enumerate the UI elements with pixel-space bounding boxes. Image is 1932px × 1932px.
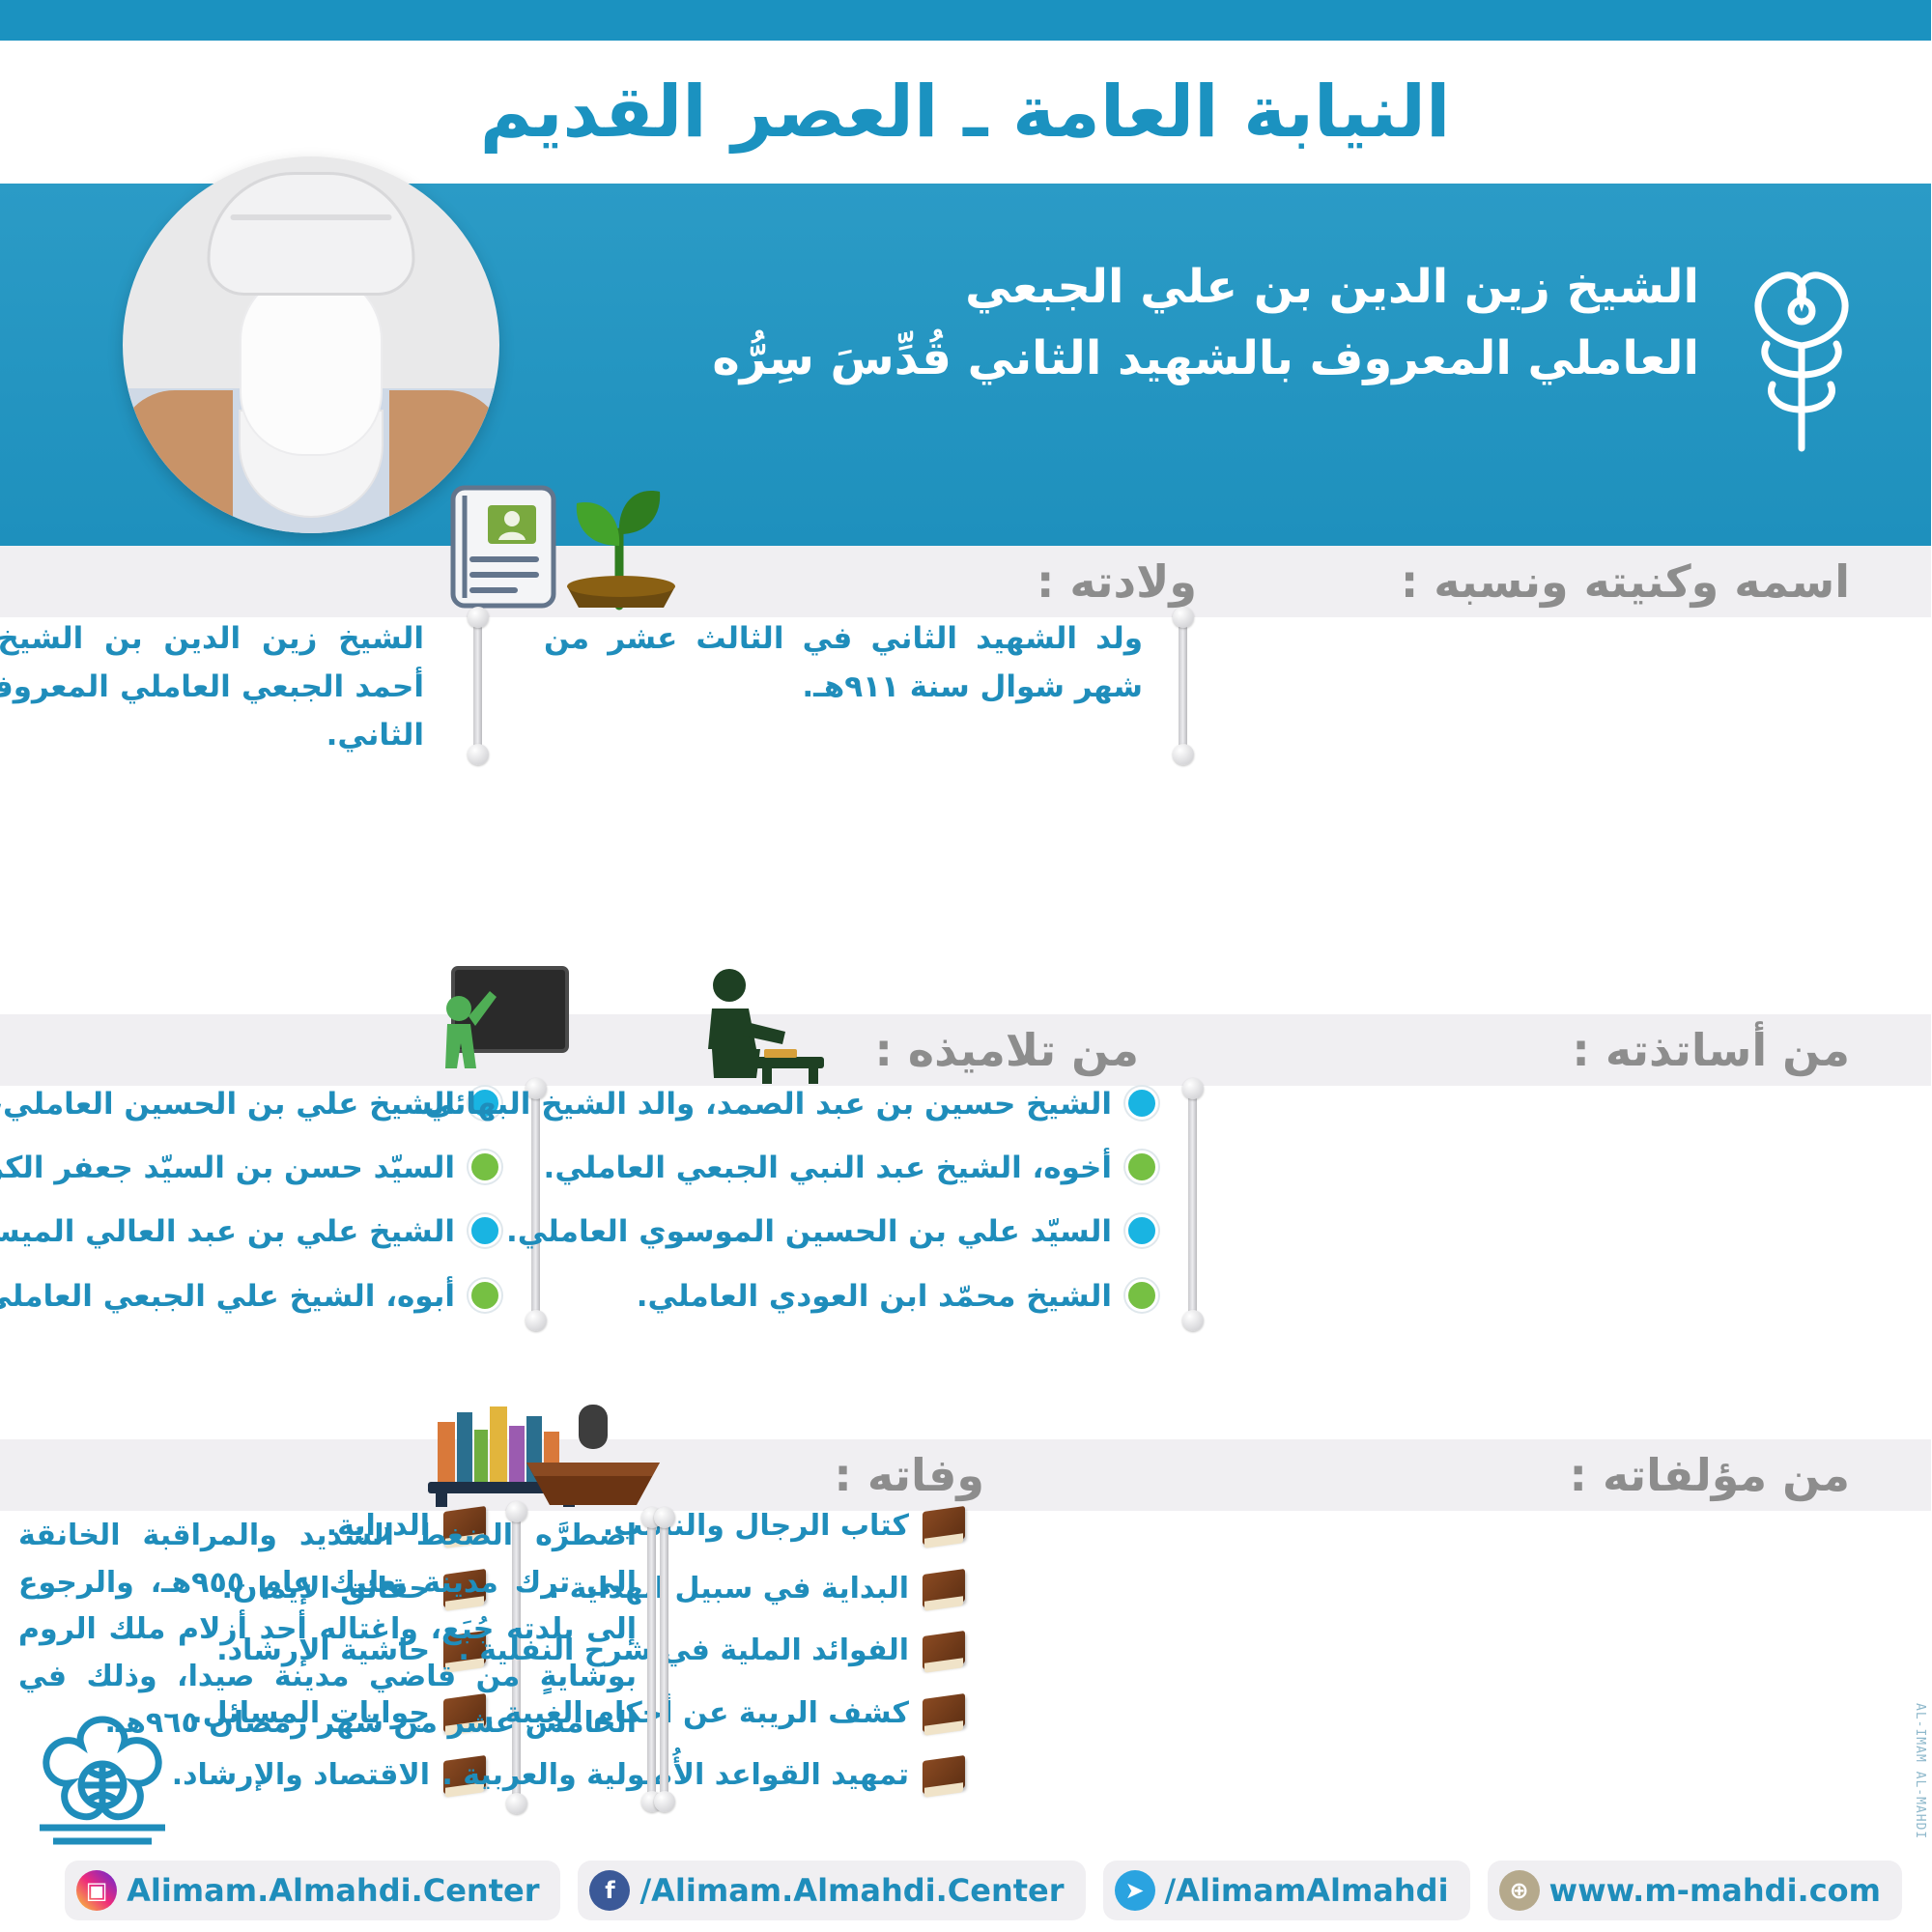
book-icon <box>923 1572 966 1605</box>
list-item-label: أبوه، الشيخ علي الجبعي العاملي. <box>0 1272 456 1321</box>
footer-social-bar: ▣Alimam.Almahdi.Centerf/Alimam.Almahdi.C… <box>0 1849 1932 1932</box>
section-body-death: اضطرَّه الضغط الشديد والمراقبة الخانقة إ… <box>19 1513 638 1747</box>
footer-link-label: www.m-mahdi.com <box>1550 1872 1882 1909</box>
book-icon <box>923 1509 966 1542</box>
list-item-label: السيّد علي بن الحسين الموسوي العاملي. <box>507 1207 1113 1256</box>
scholar-name-line2: العاملي المعروف بالشهيد الثاني قُدِّسَ س… <box>713 323 1700 394</box>
section-body-birth: ولد الشهيد الثاني في الثالث عشر من شهر ش… <box>545 614 1144 711</box>
list-item: تمهيد القواعد الأُصولية والعربية . <box>444 1752 966 1800</box>
list-item-label: السيّد حسن بن السيّد جعفر الكركي. <box>0 1144 456 1192</box>
section-body-name: الشيخ زين الدين بن الشيخ علي بن أحمد الج… <box>0 614 425 760</box>
footer-link-label: /Alimam.Almahdi.Center <box>640 1872 1065 1909</box>
watermark-text: AL-IMAM AL-MAHDI <box>1914 1703 1928 1839</box>
scholar-name-block: الشيخ زين الدين بن علي الجبعي العاملي ال… <box>713 251 1700 395</box>
list-item: الشيخ محمّد ابن العودي العاملي. <box>464 1272 1159 1321</box>
globe-icon: ⊕ <box>1500 1870 1541 1911</box>
facebook-icon: f <box>590 1870 631 1911</box>
student-writing-icon <box>676 968 831 1084</box>
section-band-identity: اسمه وكنيته ونسبه : ولادته : <box>0 546 1932 617</box>
footer-link-ig[interactable]: ▣Alimam.Almahdi.Center <box>66 1861 561 1920</box>
telegram-icon: ➤ <box>1116 1870 1156 1911</box>
face-shape <box>241 270 384 456</box>
floral-ornament-icon <box>1735 230 1870 452</box>
list-item: السيّد حسن بن السيّد جعفر الكركي. <box>0 1144 502 1192</box>
scholar-name-line1: الشيخ زين الدين بن علي الجبعي <box>713 251 1700 323</box>
cloak-left-shape <box>124 390 234 533</box>
rail-death-spacer <box>648 1519 657 1801</box>
grave-icon <box>522 1405 667 1509</box>
book-icon <box>923 1696 966 1729</box>
rail-name <box>474 618 483 753</box>
footer-link-label: /AlimamAlmahdi <box>1166 1872 1450 1909</box>
students-list: الشيخ حسين بن عبد الصمد، والد الشيخ البه… <box>464 1080 1159 1336</box>
top-accent-bar <box>0 0 1932 41</box>
book-icon <box>923 1634 966 1666</box>
scholar-portrait <box>124 156 500 533</box>
list-item: الشيخ علي بن عبد العالي الميسي. <box>0 1207 502 1256</box>
bullet-dot-icon <box>1126 1087 1159 1120</box>
rail-death <box>661 1519 669 1801</box>
instagram-icon: ▣ <box>77 1870 118 1911</box>
bullet-dot-icon <box>1126 1214 1159 1247</box>
list-item-label: أخوه، الشيخ عبد النبي الجبعي العاملي. <box>545 1144 1113 1192</box>
al-imam-al-mahdi-logo <box>21 1714 185 1859</box>
section-band-education: من أساتذته : من تلاميذه : <box>0 1014 1932 1086</box>
bullet-dot-icon <box>1126 1279 1159 1312</box>
list-item-label: الشيخ حسين بن عبد الصمد، والد الشيخ البه… <box>414 1080 1113 1128</box>
section-title-death: وفاته : <box>835 1449 985 1501</box>
section-title-students: من تلاميذه : <box>876 1024 1140 1076</box>
id-card-icon <box>448 484 560 610</box>
list-item: أخوه، الشيخ عبد النبي الجبعي العاملي. <box>464 1144 1159 1192</box>
section-title-birth: ولادته : <box>1037 555 1198 608</box>
section-band-legacy: من مؤلفاته : وفاته : <box>0 1439 1932 1511</box>
blackboard-teacher-icon <box>415 966 570 1082</box>
list-item-label: الاقتصاد والإرشاد. <box>173 1752 431 1800</box>
bullet-dot-icon <box>1126 1151 1159 1183</box>
infographic-page: النيابة العامة ـ العصر القديم الشيخ زين … <box>0 0 1932 1932</box>
footer-link-fb[interactable]: f/Alimam.Almahdi.Center <box>579 1861 1086 1920</box>
footer-link-web[interactable]: ⊕www.m-mahdi.com <box>1489 1861 1903 1920</box>
list-item: الشيخ حسين بن عبد الصمد، والد الشيخ البه… <box>464 1080 1159 1128</box>
footer-link-label: Alimam.Almahdi.Center <box>128 1872 540 1909</box>
list-item-label: الشيخ محمّد ابن العودي العاملي. <box>638 1272 1113 1321</box>
list-item-label: تمهيد القواعد الأُصولية والعربية . <box>442 1752 910 1800</box>
list-item-label: الشيخ علي بن الحسين العاملي، (المحقق الث… <box>0 1080 456 1128</box>
list-item: أبوه، الشيخ علي الجبعي العاملي. <box>0 1272 502 1321</box>
footer-link-tg[interactable]: ➤/AlimamAlmahdi <box>1104 1861 1471 1920</box>
list-item: السيّد علي بن الحسين الموسوي العاملي. <box>464 1207 1159 1256</box>
book-icon <box>923 1758 966 1791</box>
section-title-teachers: من أساتذته : <box>1573 1024 1851 1076</box>
rail-students <box>1189 1090 1198 1320</box>
list-item-label: الشيخ علي بن عبد العالي الميسي. <box>0 1207 456 1256</box>
sprout-icon <box>560 478 686 613</box>
hero-band: الشيخ زين الدين بن علي الجبعي العاملي ال… <box>0 184 1932 546</box>
page-title: النيابة العامة ـ العصر القديم <box>481 71 1452 154</box>
turban-shape <box>209 172 416 296</box>
section-title-works: من مؤلفاته : <box>1571 1449 1851 1501</box>
rail-birth <box>1179 618 1188 753</box>
section-title-name: اسمه وكنيته ونسبه : <box>1402 555 1851 608</box>
